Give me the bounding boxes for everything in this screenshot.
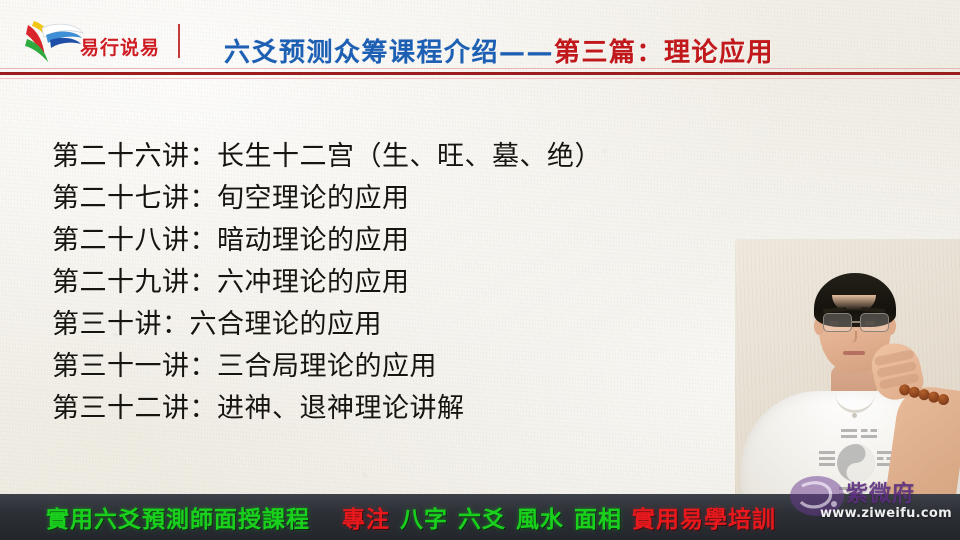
header-rule-thin-top	[0, 68, 960, 69]
course-outline-list: 第二十六讲：长生十二宫（生、旺、墓、绝） 第二十七讲：旬空理论的应用 第二十八讲…	[52, 136, 752, 430]
course-line: 第二十七讲：旬空理论的应用	[52, 178, 752, 220]
swoosh-logo-icon	[24, 19, 84, 63]
banner-segment: 八字	[400, 500, 448, 534]
banner-segment: 風水	[516, 500, 564, 534]
lens-left	[823, 313, 852, 332]
glasses-bridge	[852, 321, 860, 323]
banner-segment: 六爻	[458, 500, 506, 534]
title-highlight: 第三篇：理论应用	[554, 32, 774, 69]
banner-text-row: 實用六爻預測師面授課程 專注 八字 六爻 風水 面相 實用易學培訓	[0, 500, 776, 534]
header-divider	[178, 24, 180, 58]
course-line: 第二十八讲：暗动理论的应用	[52, 220, 752, 262]
header-rule	[0, 72, 960, 75]
banner-segment: 面相	[574, 500, 622, 534]
page-title: 六爻预测众筹课程介绍—— 第三篇：理论应用	[224, 30, 774, 70]
yin-yang-bagua-icon	[817, 427, 895, 494]
banner-segment: 專注	[342, 500, 390, 534]
banner-segment: 實用六爻預測師面授課程	[46, 500, 310, 534]
lens-right	[860, 313, 889, 332]
course-line: 第三十讲：六合理论的应用	[52, 304, 752, 346]
slide-header: 易行说易 六爻预测众筹课程介绍—— 第三篇：理论应用	[0, 0, 960, 76]
slide-canvas: 易行说易 六爻预测众筹课程介绍—— 第三篇：理论应用 第二十六讲：长生十二宫（生…	[0, 0, 960, 540]
header-rule-thin-bottom	[0, 78, 960, 79]
course-line: 第二十九讲：六冲理论的应用	[52, 262, 752, 304]
course-line: 第三十二讲：进神、退神理论讲解	[52, 388, 752, 430]
shirt-button	[852, 413, 857, 418]
title-primary: 六爻预测众筹课程介绍——	[224, 32, 554, 69]
course-line: 第二十六讲：长生十二宫（生、旺、墓、绝）	[52, 136, 752, 178]
bottom-banner: 實用六爻預測師面授課程 專注 八字 六爻 風水 面相 實用易學培訓	[0, 494, 960, 540]
course-line: 第三十一讲：三合局理论的应用	[52, 346, 752, 388]
brand-logo: 易行说易	[24, 19, 172, 65]
banner-segment: 實用易學培訓	[632, 500, 776, 534]
mouth	[843, 351, 865, 355]
logo-wordmark: 易行说易	[80, 33, 160, 60]
instructor-photo	[735, 239, 960, 494]
